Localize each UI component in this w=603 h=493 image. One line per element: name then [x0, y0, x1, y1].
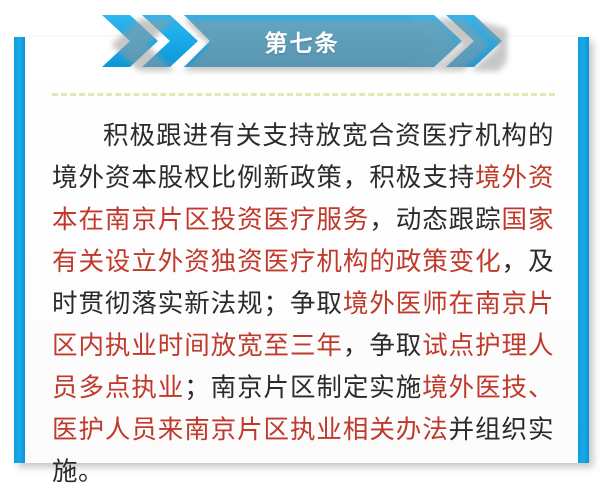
- content-card: 积极跟进有关支持放宽合资医疗机构的境外资本股权比例新政策，积极支持境外资本在南京…: [14, 37, 589, 463]
- article-text: 积极跟进有关支持放宽合资医疗机构的境外资本股权比例新政策，积极支持境外资本在南京…: [52, 115, 554, 493]
- body-clause: ，争取: [343, 332, 422, 360]
- banner-drop-shadow: [103, 19, 507, 71]
- dashed-divider: [52, 93, 555, 96]
- document-page: 积极跟进有关支持放宽合资医疗机构的境外资本股权比例新政策，积极支持境外资本在南京…: [0, 0, 603, 463]
- right-blue-rail: [578, 37, 589, 463]
- title-banner: 第七条: [100, 15, 504, 67]
- left-blue-rail: [14, 37, 25, 463]
- paper-surface: 积极跟进有关支持放宽合资医疗机构的境外资本股权比例新政策，积极支持境外资本在南京…: [25, 37, 578, 463]
- body-clause: ；南京片区制定实施: [184, 374, 422, 402]
- article-paragraph: 积极跟进有关支持放宽合资医疗机构的境外资本股权比例新政策，积极支持境外资本在南京…: [52, 115, 554, 493]
- card-body: 积极跟进有关支持放宽合资医疗机构的境外资本股权比例新政策，积极支持境外资本在南京…: [14, 37, 589, 463]
- body-clause: ，动态跟踪: [369, 206, 501, 234]
